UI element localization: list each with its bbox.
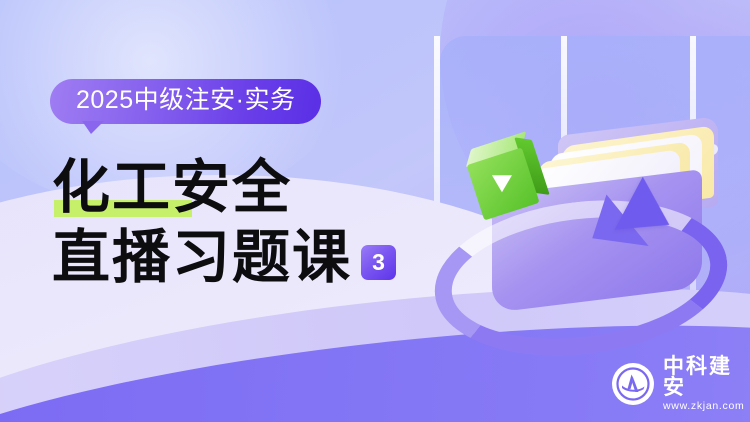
play-triangle-icon: [492, 175, 512, 192]
brand-url: www.zkjan.com: [663, 401, 750, 412]
badge-tail: [82, 121, 104, 134]
headline-text-secondary: 直播习题课: [52, 228, 352, 286]
episode-number-badge: 3: [361, 245, 396, 280]
course-banner: 2025中级注安·实务 化工安全 直播习题课 3 中科建安 www.zkjan.…: [0, 0, 750, 422]
zkjan-circle-logo-icon: [612, 363, 654, 405]
brand-logo-text: 中科建安 www.zkjan.com: [663, 356, 750, 412]
headline-text-primary: 化工安全: [52, 153, 292, 221]
folder-illustration: [430, 110, 740, 350]
brand-logo: 中科建安 www.zkjan.com: [612, 356, 750, 412]
course-category-label: 2025中级注安·实务: [50, 79, 321, 124]
headline-line-1: 化工安全: [52, 158, 396, 216]
headline-line-2: 直播习题课 3: [52, 228, 396, 286]
course-category-badge: 2025中级注安·实务: [50, 79, 321, 124]
headline-block: 化工安全 直播习题课 3: [52, 158, 396, 286]
brand-name: 中科建安: [663, 356, 750, 398]
